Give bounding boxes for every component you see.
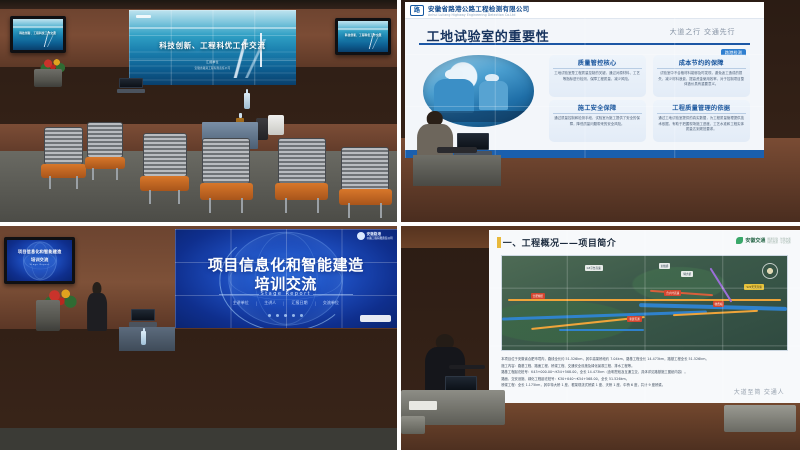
collage-panel-bottom-right: 一、工程概况——项目简介 安徽交通 畅通安徽 · 智慧交通 绿色交通 · 平安交… bbox=[401, 226, 800, 450]
map-label: 合肥枢纽 bbox=[531, 293, 545, 299]
road-alt bbox=[650, 289, 713, 295]
meta-item-3: 汇报日期 bbox=[292, 300, 308, 306]
side-monitor-right: 科技创新、工程科优工作交流 bbox=[335, 18, 391, 56]
conference-room-scene-2: 路 安徽省路港公路工程检测有限公司 Anhui Luliang Highway … bbox=[401, 0, 800, 222]
calligraphy-text-2: 大道至简 交通人 bbox=[734, 387, 785, 396]
chair-legs bbox=[348, 203, 382, 217]
slide-training-cover: 安徽路港 公路工程有限责任公司 项目信息化和智能建造 培训交流 Stage Re… bbox=[175, 229, 397, 328]
photo-worker-head-1 bbox=[445, 69, 463, 79]
company-name-en: Anhui Luliang Highway Engineering Detect… bbox=[428, 13, 529, 17]
water-bottle-3 bbox=[141, 331, 147, 344]
chair bbox=[143, 133, 187, 204]
chair-back bbox=[202, 138, 250, 185]
logo-subtext: 畅通安徽 · 智慧交通 绿色交通 · 平安交通 bbox=[767, 238, 790, 245]
lectern-2 bbox=[36, 300, 60, 331]
laptop-screen-3 bbox=[131, 309, 155, 321]
side-monitor-left: 科技创新、工程科优工作交流 bbox=[10, 16, 66, 54]
mini-title-right: 科技创新、工程科优工作交流 bbox=[338, 33, 388, 37]
mini-title-1: 项目信息化和智能建造 bbox=[7, 249, 72, 255]
presenter-table bbox=[413, 155, 501, 186]
dot bbox=[300, 314, 303, 317]
laptop-3 bbox=[131, 309, 155, 327]
quadrant-heading: 工程质量管理的依据 bbox=[657, 103, 746, 114]
quadrant-body: 通过工地试验室提供的真实数据，为工程质量管理提供技术依据，有助于把握现场施工进度… bbox=[657, 116, 746, 133]
logo-subname: 公路工程有限责任公司 bbox=[367, 237, 393, 240]
photo-worker-body-2 bbox=[479, 81, 508, 110]
slide-horizon-line bbox=[129, 27, 296, 29]
map-label: G3京台高速 bbox=[585, 265, 603, 271]
compass-rose-icon bbox=[762, 263, 778, 279]
project-description: 本项目位于安徽省合肥市境内，路线全长约 51.526km，其中高架桥段约 7.0… bbox=[501, 356, 787, 388]
quadrant-card-2: 成本节约的保障 试验室中不合格材料能够及时发现，避免返工造成的损失，减少材料浪费… bbox=[653, 55, 750, 97]
white-mug bbox=[268, 115, 284, 135]
map-label: 收费站 bbox=[713, 301, 725, 307]
map-label: 新建互通 bbox=[627, 316, 641, 322]
chair bbox=[44, 127, 84, 189]
dot bbox=[284, 314, 287, 317]
subtitle-rule-right bbox=[313, 294, 353, 295]
road-main bbox=[508, 299, 781, 301]
video-wall-training: 安徽路港 公路工程有限责任公司 项目信息化和智能建造 培训交流 Stage Re… bbox=[175, 229, 397, 328]
collage-panel-top-right: 路 安徽省路港公路工程检测有限公司 Anhui Luliang Highway … bbox=[401, 0, 800, 222]
side-monitor-bl: 项目信息化和智能建造 培训交流 Stage Report bbox=[4, 237, 75, 284]
control-overlay-panel[interactable] bbox=[360, 315, 391, 322]
chair bbox=[87, 122, 123, 180]
road-purple bbox=[710, 268, 733, 303]
river-small bbox=[559, 329, 644, 331]
slide-project-overview: 一、工程概况——项目简介 安徽交通 畅通安徽 · 智慧交通 绿色交通 · 平安交… bbox=[489, 230, 800, 402]
lectern bbox=[34, 69, 62, 87]
chair-legs bbox=[209, 198, 243, 213]
gooseneck-microphone bbox=[449, 365, 485, 369]
quadrant-card-1: 质量管控核心 工地试验室是工程质量控制的关键，通过对原材料、工艺等指标进行检测，… bbox=[549, 55, 646, 97]
meta-item-1: 主讲单位 bbox=[233, 300, 249, 306]
chair-back bbox=[341, 147, 389, 191]
chair-back bbox=[87, 122, 123, 158]
meta-item-2: 主讲人 bbox=[264, 300, 276, 306]
leaf-icon bbox=[736, 237, 743, 244]
quadrant-card-3: 施工安全保障 通过质量控制和检测手段，试验室为施工提供了安全的保障，降低质量问题… bbox=[549, 100, 646, 142]
map-label: 合六叶高速 bbox=[664, 290, 681, 296]
chair bbox=[202, 138, 250, 213]
slide-header: 路 安徽省路港公路工程检测有限公司 Anhui Luliang Highway … bbox=[405, 2, 764, 19]
company-name-block: 安徽省路港公路工程检测有限公司 Anhui Luliang Highway En… bbox=[428, 3, 529, 17]
quadrant-heading: 施工安全保障 bbox=[553, 103, 642, 114]
mini-horizon-2 bbox=[338, 28, 388, 30]
logo-sub-2: 绿色交通 · 平安交通 bbox=[767, 241, 790, 244]
conference-room-scene-1: 科技创新、工程科优工作交流 汇报单位 安徽省路港工程有限责任公司 科技创新、工程… bbox=[0, 0, 397, 222]
laptop-base-1 bbox=[117, 89, 146, 93]
paper-notes bbox=[409, 401, 437, 410]
route-satellite-map: 合肥枢纽 G3京台高速 新建互通 S22天天高速 主线桥 特大桥 合六叶高速 收… bbox=[501, 255, 787, 352]
training-hall-scene: 安徽路港 公路工程有限责任公司 项目信息化和智能建造 培训交流 Stage Re… bbox=[0, 226, 397, 450]
calligraphy-text: 大道之行 交通先行 bbox=[670, 27, 736, 37]
water-bottle-1 bbox=[244, 93, 250, 109]
quadrant-body: 工地试验室是工程质量控制的关键，通过对原材料、工艺等指标进行检测，保障工程质量，… bbox=[553, 71, 642, 82]
laptop-screen-1 bbox=[119, 78, 143, 89]
chair-legs bbox=[285, 198, 319, 213]
chair-back bbox=[278, 138, 326, 185]
slide-title: 工地试验室的重要性 bbox=[427, 26, 550, 45]
slide-english-subtitle: Stage Report bbox=[175, 291, 397, 297]
quadrant-heading: 质量管控核心 bbox=[553, 58, 642, 69]
collage-panel-top-left: 科技创新、工程科优工作交流 汇报单位 安徽省路港工程有限责任公司 科技创新、工程… bbox=[0, 0, 397, 222]
chair-back bbox=[143, 133, 187, 177]
video-wall-project: 一、工程概况——项目简介 安徽交通 畅通安徽 · 智慧交通 绿色交通 · 平安交… bbox=[489, 230, 800, 402]
mirrored-slide-right: 科技创新、工程科优工作交流 bbox=[338, 21, 388, 53]
room-ceiling bbox=[0, 0, 397, 9]
mini-english: Stage Report bbox=[7, 264, 72, 266]
monitor-content-right: 科技创新、工程科优工作交流 bbox=[338, 21, 388, 53]
subtitle-rule-left bbox=[219, 294, 259, 295]
map-label: S22天天高速 bbox=[744, 284, 763, 290]
logo-bug-icon bbox=[357, 232, 365, 240]
logo-text-block: 安徽路港 公路工程有限责任公司 bbox=[367, 232, 393, 240]
mini-title-left: 科技创新、工程科优工作交流 bbox=[13, 31, 63, 35]
quadrant-card-4: 工程质量管理的依据 通过工地试验室提供的真实数据，为工程质量管理提供技术依据，有… bbox=[653, 100, 750, 142]
chair-legs bbox=[149, 190, 180, 204]
company-name-cn: 安徽省路港公路工程检测有限公司 bbox=[428, 3, 529, 13]
microphone-stand bbox=[437, 147, 477, 154]
dot bbox=[268, 314, 271, 317]
front-table bbox=[119, 327, 175, 352]
mirrored-slide-left: 科技创新、工程科优工作交流 bbox=[13, 19, 63, 51]
mini-title-2: 培训交流 bbox=[7, 257, 72, 263]
map-label: 主线桥 bbox=[659, 263, 671, 269]
mini-horizon bbox=[13, 26, 63, 28]
meta-item-4: 交流单位 bbox=[323, 300, 339, 306]
company-logo-icon: 路 bbox=[410, 5, 424, 16]
quadrant-heading: 成本节约的保障 bbox=[657, 58, 746, 69]
chair bbox=[341, 147, 389, 218]
monitor-content-bl: 项目信息化和智能建造 培训交流 Stage Report bbox=[7, 240, 72, 281]
project-briefing-scene: 一、工程概况——项目简介 安徽交通 畅通安徽 · 智慧交通 绿色交通 · 平安交… bbox=[401, 226, 800, 450]
presenter-torso-2 bbox=[87, 293, 107, 331]
room-floor-3 bbox=[0, 428, 397, 450]
title-underline bbox=[419, 43, 749, 45]
map-label: 特大桥 bbox=[681, 271, 693, 277]
logo-name: 安徽交通 bbox=[745, 237, 765, 244]
mirrored-training-slide: 项目信息化和智能建造 培训交流 Stage Report bbox=[7, 240, 72, 281]
presenter-figure bbox=[149, 57, 165, 86]
side-desk bbox=[724, 405, 796, 432]
chair bbox=[278, 138, 326, 213]
title-accent-bar bbox=[497, 237, 501, 248]
side-desk-left bbox=[401, 416, 425, 434]
anhui-transport-logo: 安徽交通 畅通安徽 · 智慧交通 绿色交通 · 平安交通 bbox=[736, 237, 790, 244]
photo-collage: 科技创新、工程科优工作交流 汇报单位 安徽省路港工程有限责任公司 科技创新、工程… bbox=[0, 0, 800, 450]
chair-legs bbox=[92, 168, 118, 180]
standing-presenter bbox=[87, 282, 107, 331]
collage-panel-bottom-left: 安徽路港 公路工程有限责任公司 项目信息化和智能建造 培训交流 Stage Re… bbox=[0, 226, 397, 450]
monitor-content-left: 科技创新、工程科优工作交流 bbox=[13, 19, 63, 51]
slide-meta-row: 主讲单位| 主讲人| 汇报日期| 交流单位 bbox=[175, 300, 397, 306]
chair-legs bbox=[49, 176, 78, 188]
laptop-2 bbox=[457, 133, 489, 157]
dot bbox=[292, 314, 295, 317]
quadrant-body: 通过质量控制和检测手段，试验室为施工提供了安全的保障，降低质量问题带来的安全风险… bbox=[553, 116, 642, 127]
dot bbox=[276, 314, 279, 317]
quadrant-body: 试验室中不合格材料能够及时发现，避免返工造成的损失，减少材料浪费，提高资金使用效… bbox=[657, 71, 746, 88]
chair-back bbox=[44, 127, 84, 166]
photo-worker-body-1 bbox=[434, 79, 474, 113]
slide-logo-badge bbox=[136, 15, 151, 18]
corporate-logo: 安徽路港 公路工程有限责任公司 bbox=[357, 232, 393, 240]
slide-title: 一、工程概况——项目简介 bbox=[503, 236, 616, 249]
laptop-1 bbox=[119, 78, 143, 94]
slide-title: 科技创新、工程科优工作交流 bbox=[129, 40, 296, 51]
